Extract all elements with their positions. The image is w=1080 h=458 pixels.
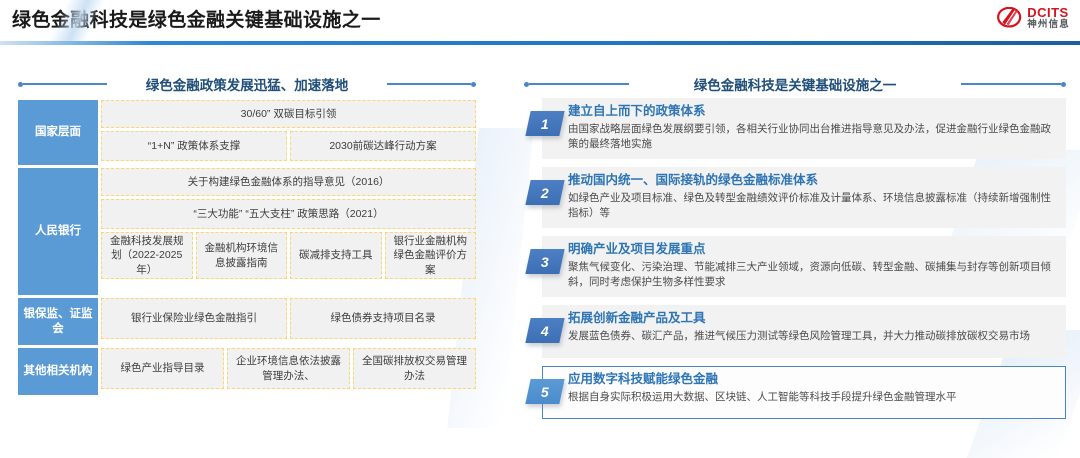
logo-chinese-name: 神州信息	[1027, 20, 1070, 30]
right-panel-header: 绿色金融科技是关键基础设施之一	[524, 76, 1066, 92]
table-row-cells: 绿色产业指导目录企业环境信息依法披露管理办法、全国碳排放权交易管理办法	[101, 348, 476, 395]
list-item[interactable]: 5应用数字科技赋能绿色金融根据自身实际积极运用大数据、区块链、人工智能等科技手段…	[524, 366, 1066, 419]
policy-cell[interactable]: 关于构建绿色金融体系的指导意见（2016）	[101, 168, 476, 196]
list-item-number-badge: 2	[525, 180, 564, 205]
list-item-number: 3	[541, 254, 549, 270]
list-item-title: 明确产业及项目发展重点	[568, 242, 1056, 258]
list-item-text: 应用数字科技赋能绿色金融根据自身实际积极运用大数据、区块链、人工智能等科技手段提…	[524, 366, 1066, 412]
list-item-text: 推动国内统一、国际接轨的绿色金融标准体系如绿色产业及项目标准、绿色及转型金融绩效…	[524, 167, 1066, 228]
left-panel-title: 绿色金融政策发展迅猛、加速落地	[146, 78, 349, 93]
policy-cell[interactable]: 碳减排支持工具	[290, 232, 382, 279]
table-subrow: 30/60” 双碳目标引领	[101, 100, 476, 128]
left-header-line-end	[387, 83, 471, 85]
table-subrow: 银行业保险业绿色金融指引绿色债券支持项目名录	[101, 298, 476, 339]
right-header-line-end	[961, 83, 1061, 85]
left-panel-header: 绿色金融政策发展迅猛、加速落地	[18, 76, 476, 92]
table-row-label: 人民银行	[18, 168, 98, 295]
list-item-description: 根据自身实际积极运用大数据、区块链、人工智能等科技手段提升绿色金融管理水平	[568, 390, 1056, 405]
list-item-text: 明确产业及项目发展重点聚焦气候变化、污染治理、节能减排三大产业领域，资源向低碳、…	[524, 236, 1066, 297]
list-item-number-badge: 5	[525, 379, 564, 404]
list-item-title: 拓展创新金融产品及工具	[568, 311, 1056, 327]
header-divider	[0, 41, 1080, 45]
table-row: 国家层面30/60” 双碳目标引领“1+N” 政策体系支撑2030前碳达峰行动方…	[18, 100, 476, 165]
list-item-title: 推动国内统一、国际接轨的绿色金融标准体系	[568, 173, 1056, 189]
list-item-text: 建立自上而下的政策体系由国家战略层面绿色发展纲要引领，各相关行业协同出台推进指导…	[524, 98, 1066, 159]
policy-cell[interactable]: 金融科技发展规划（2022-2025年）	[101, 232, 193, 279]
policy-cell[interactable]: 企业环境信息依法披露管理办法、	[227, 348, 350, 389]
table-row-label: 国家层面	[18, 100, 98, 165]
list-item-description: 如绿色产业及项目标准、绿色及转型金融绩效评价标准及计量体系、环境信息披露标准（持…	[568, 191, 1056, 221]
left-header-dot-end	[471, 82, 476, 87]
page-title: 绿色金融科技是绿色金融关键基础设施之一	[12, 5, 381, 32]
list-item-title: 建立自上而下的政策体系	[568, 104, 1056, 120]
policy-cell[interactable]: “三大功能” “五大支柱” 政策思路（2021）	[101, 199, 476, 229]
left-header-line-start	[23, 83, 107, 85]
table-row-cells: 30/60” 双碳目标引领“1+N” 政策体系支撑2030前碳达峰行动方案	[101, 100, 476, 165]
policy-cell[interactable]: 金融机构环境信息披露指南	[196, 232, 288, 279]
list-item-number: 5	[541, 384, 549, 400]
list-item-description: 发展蓝色债券、碳汇产品，推进气候压力测试等绿色风险管理工具，并大力推动碳排放碳权…	[568, 329, 1056, 344]
table-subrow: 绿色产业指导目录企业环境信息依法披露管理办法、全国碳排放权交易管理办法	[101, 348, 476, 389]
list-item-number-badge: 3	[525, 249, 564, 274]
key-infrastructure-list: 1建立自上而下的政策体系由国家战略层面绿色发展纲要引领，各相关行业协同出台推进指…	[524, 98, 1066, 427]
policy-cell[interactable]: 银行业保险业绿色金融指引	[101, 298, 287, 339]
dcits-swoosh-icon	[997, 7, 1023, 29]
list-item[interactable]: 1建立自上而下的政策体系由国家战略层面绿色发展纲要引领，各相关行业协同出台推进指…	[524, 98, 1066, 159]
policy-cell[interactable]: 全国碳排放权交易管理办法	[353, 348, 476, 389]
table-row: 银保监、证监会银行业保险业绿色金融指引绿色债券支持项目名录	[18, 298, 476, 345]
policy-cell[interactable]: 2030前碳达峰行动方案	[290, 131, 476, 161]
list-item-title: 应用数字科技赋能绿色金融	[568, 372, 1056, 388]
list-item-text: 拓展创新金融产品及工具发展蓝色债券、碳汇产品，推进气候压力测试等绿色风险管理工具…	[524, 305, 1066, 351]
policy-cell[interactable]: 绿色债券支持项目名录	[290, 298, 476, 339]
right-header-dot-end	[1061, 82, 1066, 87]
list-item-number-badge: 4	[525, 318, 564, 343]
list-item[interactable]: 2推动国内统一、国际接轨的绿色金融标准体系如绿色产业及项目标准、绿色及转型金融绩…	[524, 167, 1066, 228]
table-row: 其他相关机构绿色产业指导目录企业环境信息依法披露管理办法、全国碳排放权交易管理办…	[18, 348, 476, 395]
list-item-number: 4	[541, 323, 549, 339]
table-row-label: 其他相关机构	[18, 348, 98, 395]
list-item-description: 聚焦气候变化、污染治理、节能减排三大产业领域，资源向低碳、转型金融、碳捕集与封存…	[568, 260, 1056, 290]
table-subrow: 金融科技发展规划（2022-2025年）金融机构环境信息披露指南碳减排支持工具银…	[101, 232, 476, 279]
policy-cell[interactable]: “1+N” 政策体系支撑	[101, 131, 287, 161]
list-item-number-badge: 1	[525, 111, 564, 136]
slide-canvas: 绿色金融科技是绿色金融关键基础设施之一 DCITS 神州信息 绿色金融政策发展迅…	[0, 0, 1080, 458]
table-row-cells: 关于构建绿色金融体系的指导意见（2016）“三大功能” “五大支柱” 政策思路（…	[101, 168, 476, 295]
policy-cell[interactable]: 30/60” 双碳目标引领	[101, 100, 476, 128]
brand-logo: DCITS 神州信息	[997, 6, 1070, 30]
list-item[interactable]: 4拓展创新金融产品及工具发展蓝色债券、碳汇产品，推进气候压力测试等绿色风险管理工…	[524, 305, 1066, 358]
policy-table: 国家层面30/60” 双碳目标引领“1+N” 政策体系支撑2030前碳达峰行动方…	[18, 100, 476, 398]
list-item-number: 1	[541, 116, 549, 132]
table-row-label: 银保监、证监会	[18, 298, 98, 345]
list-item-description: 由国家战略层面绿色发展纲要引领，各相关行业协同出台推进指导意见及办法，促进金融行…	[568, 122, 1056, 152]
table-subrow: “三大功能” “五大支柱” 政策思路（2021）	[101, 199, 476, 229]
right-header-line-start	[529, 83, 629, 85]
list-item-number: 2	[541, 185, 549, 201]
policy-cell[interactable]: 绿色产业指导目录	[101, 348, 224, 389]
right-panel-title: 绿色金融科技是关键基础设施之一	[694, 78, 897, 93]
table-row: 人民银行关于构建绿色金融体系的指导意见（2016）“三大功能” “五大支柱” 政…	[18, 168, 476, 295]
table-subrow: 关于构建绿色金融体系的指导意见（2016）	[101, 168, 476, 196]
logo-english-name: DCITS	[1027, 6, 1070, 19]
policy-cell[interactable]: 银行业金融机构绿色金融评价方案	[385, 232, 477, 279]
table-row-cells: 银行业保险业绿色金融指引绿色债券支持项目名录	[101, 298, 476, 345]
table-subrow: “1+N” 政策体系支撑2030前碳达峰行动方案	[101, 131, 476, 161]
list-item[interactable]: 3明确产业及项目发展重点聚焦气候变化、污染治理、节能减排三大产业领域，资源向低碳…	[524, 236, 1066, 297]
